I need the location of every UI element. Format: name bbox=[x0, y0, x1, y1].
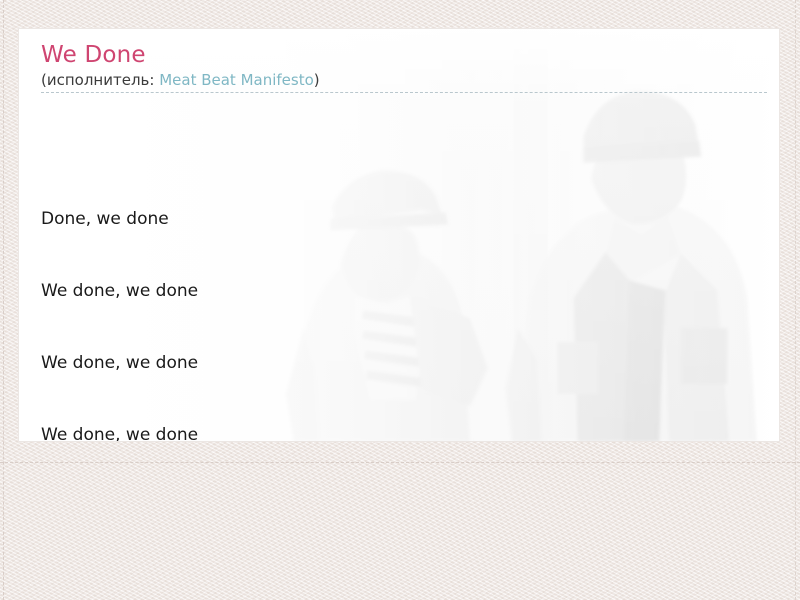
lyrics-card: We Done (исполнитель: Meat Beat Manifest… bbox=[18, 28, 780, 442]
page-guide-left bbox=[3, 0, 4, 600]
page-guide-bottom bbox=[0, 462, 800, 463]
artist-prefix-label: (исполнитель: bbox=[41, 71, 159, 89]
page-guide-right bbox=[795, 0, 796, 600]
lyrics-stanza: Done, we done We done, we done We done, … bbox=[41, 159, 763, 442]
lyrics-body: Done, we done We done, we done We done, … bbox=[41, 111, 763, 442]
artist-link[interactable]: Meat Beat Manifesto bbox=[159, 71, 314, 89]
lyric-line: We done, we done bbox=[41, 351, 763, 375]
header-divider bbox=[41, 92, 767, 93]
artist-suffix-label: ) bbox=[314, 71, 320, 89]
lyric-line: Done, we done bbox=[41, 207, 763, 231]
lyric-line: We done, we done bbox=[41, 279, 763, 303]
lyric-line: We done, we done bbox=[41, 423, 763, 442]
song-title: We Done bbox=[41, 41, 763, 69]
artist-line: (исполнитель: Meat Beat Manifesto) bbox=[41, 70, 763, 90]
